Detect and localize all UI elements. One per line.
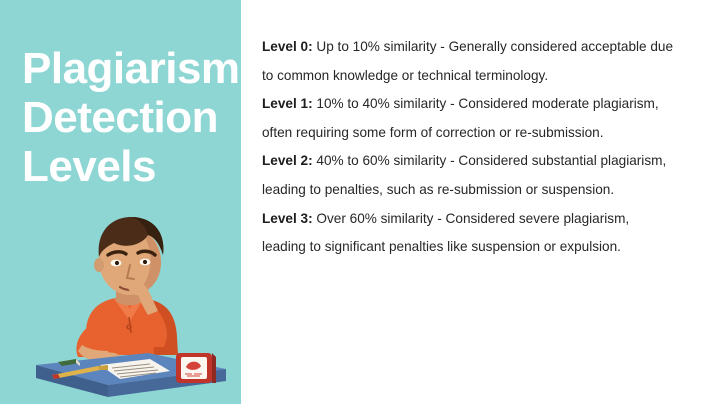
- left-pupil-shape: [115, 261, 119, 265]
- slide-canvas: Plagiarism Detection Levels: [0, 0, 720, 404]
- page-title-line-3: Levels: [22, 142, 232, 191]
- frame-side-shape: [212, 353, 216, 383]
- page-title: Plagiarism Detection Levels: [22, 44, 232, 191]
- level-text-0: Up to 10% similarity - Generally conside…: [262, 39, 673, 83]
- right-pupil-shape: [143, 260, 147, 264]
- level-label-3: Level 3:: [262, 211, 313, 226]
- level-paragraph-1: Level 1: 10% to 40% similarity - Conside…: [262, 90, 674, 147]
- left-teal-panel: Plagiarism Detection Levels: [0, 0, 241, 404]
- level-label-2: Level 2:: [262, 153, 313, 168]
- student-thinking-illustration: [30, 205, 230, 400]
- level-text-1: 10% to 40% similarity - Considered moder…: [262, 96, 659, 140]
- page-title-line-2: Detection: [22, 93, 232, 142]
- page-title-line-1: Plagiarism: [22, 44, 232, 93]
- ear-shape: [94, 258, 104, 272]
- level-paragraph-3: Level 3: Over 60% similarity - Considere…: [262, 205, 674, 262]
- level-text-3: Over 60% similarity - Considered severe …: [262, 211, 629, 255]
- level-label-0: Level 0:: [262, 39, 313, 54]
- level-paragraph-0: Level 0: Up to 10% similarity - Generall…: [262, 33, 674, 90]
- levels-description-list: Level 0: Up to 10% similarity - Generall…: [262, 33, 674, 262]
- student-thinking-icon: [30, 205, 230, 400]
- level-label-1: Level 1:: [262, 96, 313, 111]
- level-paragraph-2: Level 2: 40% to 60% similarity - Conside…: [262, 147, 674, 204]
- level-text-2: 40% to 60% similarity - Considered subst…: [262, 153, 666, 197]
